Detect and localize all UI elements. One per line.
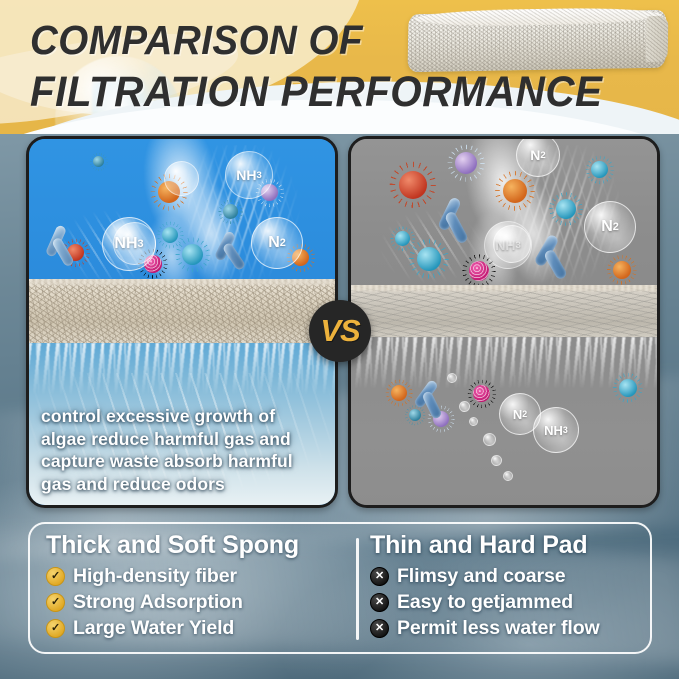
caption-line: capture waste absorb harmful — [41, 450, 327, 473]
gas-label-text: N — [268, 234, 280, 252]
gas-label-text: NH — [495, 237, 515, 253]
product-sponge-image — [407, 10, 666, 72]
list-item: ✓ Large Water Yield — [46, 615, 346, 641]
list-item: ✕ Flimsy and coarse — [370, 563, 638, 589]
list-item-label: Strong Adsorption — [73, 591, 243, 614]
gas-label-text: N — [513, 407, 522, 422]
microbe-particle — [591, 161, 608, 178]
list-item: ✕ Permit less water flow — [370, 615, 638, 641]
vs-label: VS — [320, 313, 359, 349]
list-item-label: Flimsy and coarse — [397, 565, 565, 588]
gas-label-sub: 2 — [280, 237, 286, 249]
gas-label-text: NH — [114, 235, 137, 253]
list-item-label: Large Water Yield — [73, 617, 234, 640]
gas-label-sub: 2 — [613, 221, 619, 233]
footer-left-list: ✓ High-density fiber ✓ Strong Adsorption… — [46, 563, 346, 641]
check-icon: ✓ — [46, 619, 65, 638]
bubble — [164, 161, 199, 196]
left-panel-upper-water: NH3 NH3 N2 — [29, 139, 335, 297]
footer-left-title: Thick and Soft Spong — [46, 530, 346, 560]
gas-label-nh3-faded: NH3 — [484, 221, 532, 269]
check-icon: ✓ — [46, 567, 65, 586]
footer-right-list: ✕ Flimsy and coarse ✕ Easy to getjammed … — [370, 563, 638, 641]
gas-label-text: NH — [236, 167, 256, 183]
bacteria-rod — [543, 248, 568, 280]
gas-label-n2: N2 — [584, 201, 636, 253]
gas-label-sub: 3 — [563, 425, 568, 435]
list-item: ✓ High-density fiber — [46, 563, 346, 589]
footer-column-thin-pad: Thin and Hard Pad ✕ Flimsy and coarse ✕ … — [370, 530, 638, 646]
microbe-particle — [503, 179, 527, 203]
microbe-particle — [399, 171, 427, 199]
comparison-panels: NH3 NH3 N2 control excessive growth of — [0, 136, 679, 508]
gas-label-nh3: NH3 — [533, 407, 579, 453]
footer-divider — [356, 538, 359, 640]
microbe-particle — [619, 379, 637, 397]
footer-column-thick-sponge: Thick and Soft Spong ✓ High-density fibe… — [46, 530, 346, 646]
vs-badge: VS — [309, 300, 371, 362]
gas-label-n2: N2 — [516, 136, 560, 177]
gas-label-nh3: NH3 — [225, 151, 273, 199]
microbe-particle — [391, 385, 407, 401]
microbe-particle — [223, 204, 238, 219]
list-item-label: High-density fiber — [73, 565, 237, 588]
gas-label-sub: 3 — [138, 238, 144, 250]
infographic-poster: COMPARISON OF FILTRATION PERFORMANCE — [0, 0, 679, 679]
list-item-label: Permit less water flow — [397, 617, 600, 640]
left-panel-caption: control excessive growth of algae reduce… — [41, 405, 327, 495]
right-panel-upper-water: N2 N2 NH3 — [351, 139, 657, 297]
filter-fiber-texture — [29, 279, 335, 343]
footer-right-title: Thin and Hard Pad — [370, 530, 638, 560]
right-panel-lower-water: N2 NH3 — [351, 337, 657, 505]
left-panel-thick-sponge: NH3 NH3 N2 control excessive growth of — [26, 136, 338, 508]
filter-fiber-texture — [351, 285, 657, 337]
right-filter-layer — [351, 285, 657, 337]
microbe-particle — [613, 261, 631, 279]
sponge-right-face — [646, 16, 669, 62]
gas-label-text: N — [601, 218, 613, 236]
microbe-particle — [182, 244, 203, 265]
microbe-particle — [556, 199, 576, 219]
cross-icon: ✕ — [370, 593, 389, 612]
filter-top-edge — [351, 285, 657, 291]
microbe-particle — [455, 152, 477, 174]
check-icon: ✓ — [46, 593, 65, 612]
cross-icon: ✕ — [370, 619, 389, 638]
list-item-label: Easy to getjammed — [397, 591, 573, 614]
bubble — [491, 455, 502, 466]
gas-label-text: N — [530, 147, 540, 163]
filter-top-edge — [29, 279, 335, 285]
bubble — [459, 401, 470, 412]
microbe-particle — [93, 156, 104, 167]
list-item: ✕ Easy to getjammed — [370, 589, 638, 615]
cross-icon: ✕ — [370, 567, 389, 586]
bubble — [447, 373, 457, 383]
caption-line: algae reduce harmful gas and — [41, 428, 327, 451]
gas-label-sub: 2 — [540, 150, 545, 161]
gas-label-sub: 3 — [256, 170, 261, 181]
gas-label-text: NH — [544, 423, 563, 438]
bubble — [469, 417, 478, 426]
left-filter-layer — [29, 279, 335, 343]
feature-comparison-footer: Thick and Soft Spong ✓ High-density fibe… — [28, 522, 652, 654]
gas-label-n2: N2 — [251, 217, 303, 269]
gas-label-sub: 3 — [515, 240, 520, 251]
gas-label-nh3: NH3 — [102, 217, 156, 271]
list-item: ✓ Strong Adsorption — [46, 589, 346, 615]
bubble — [503, 471, 513, 481]
microbe-particle-magenta — [469, 261, 489, 281]
right-panel-thin-pad: N2 N2 NH3 — [348, 136, 660, 508]
caption-line: gas and reduce odors — [41, 473, 327, 496]
microbe-particle — [417, 247, 441, 271]
microbe-particle-magenta — [473, 385, 490, 402]
caption-line: control excessive growth of — [41, 405, 327, 428]
title-line-2: FILTRATION PERFORMANCE — [30, 66, 632, 118]
microbe-particle — [409, 409, 421, 421]
bubble — [483, 433, 496, 446]
gas-label-sub: 2 — [522, 409, 527, 419]
